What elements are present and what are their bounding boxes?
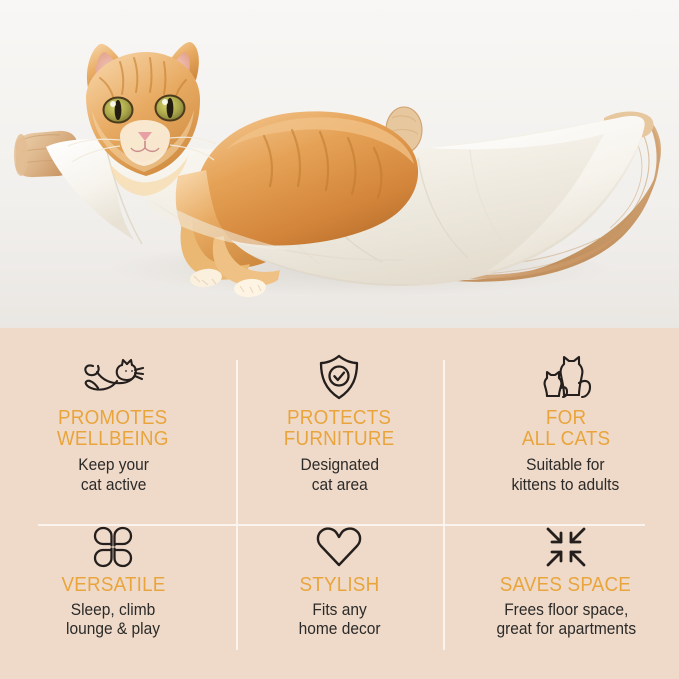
product-infographic: PROMOTES WELLBEING Keep your cat active … <box>0 0 679 679</box>
cat-eye-left <box>104 98 133 123</box>
benefit-title: SAVES SPACE <box>500 574 631 595</box>
benefit-item-protects-furniture: PROTECTS FURNITURE Designated cat area <box>226 328 452 504</box>
benefit-desc: Suitable for kittens to adults <box>512 456 620 495</box>
cat-hammock-illustration <box>0 0 679 328</box>
benefit-item-promotes-wellbeing: PROMOTES WELLBEING Keep your cat active <box>0 328 226 504</box>
benefit-item-stylish: STYLISH Fits any home decor <box>226 504 452 679</box>
benefit-desc: Frees floor space, great for apartments <box>496 601 636 640</box>
heart-icon <box>316 526 362 568</box>
benefit-item-versatile: VERSATILE Sleep, climb lounge & play <box>0 504 226 679</box>
benefit-title: PROTECTS FURNITURE <box>284 407 395 449</box>
stretching-cat-icon <box>77 354 149 400</box>
four-petal-clover-icon <box>92 526 134 568</box>
benefits-grid: PROMOTES WELLBEING Keep your cat active … <box>0 328 679 679</box>
benefit-desc: Fits any home decor <box>299 601 381 640</box>
benefit-title: FOR ALL CATS <box>522 407 610 449</box>
benefits-panel: PROMOTES WELLBEING Keep your cat active … <box>0 328 679 679</box>
benefit-title: PROMOTES WELLBEING <box>57 407 169 449</box>
hero-product-image <box>0 0 679 328</box>
cat-eye-right <box>156 96 185 121</box>
shield-check-icon <box>317 354 361 400</box>
benefit-item-for-all-cats: FOR ALL CATS Suitable for kittens to adu… <box>453 328 679 504</box>
compress-arrows-icon <box>544 526 588 568</box>
benefit-title: STYLISH <box>300 574 380 595</box>
two-cats-icon <box>540 354 592 400</box>
benefit-title: VERSATILE <box>61 574 165 595</box>
benefit-desc: Designated cat area <box>300 456 378 495</box>
benefit-item-saves-space: SAVES SPACE Frees floor space, great for… <box>453 504 679 679</box>
benefit-desc: Sleep, climb lounge & play <box>66 601 160 640</box>
benefit-desc: Keep your cat active <box>78 456 149 495</box>
